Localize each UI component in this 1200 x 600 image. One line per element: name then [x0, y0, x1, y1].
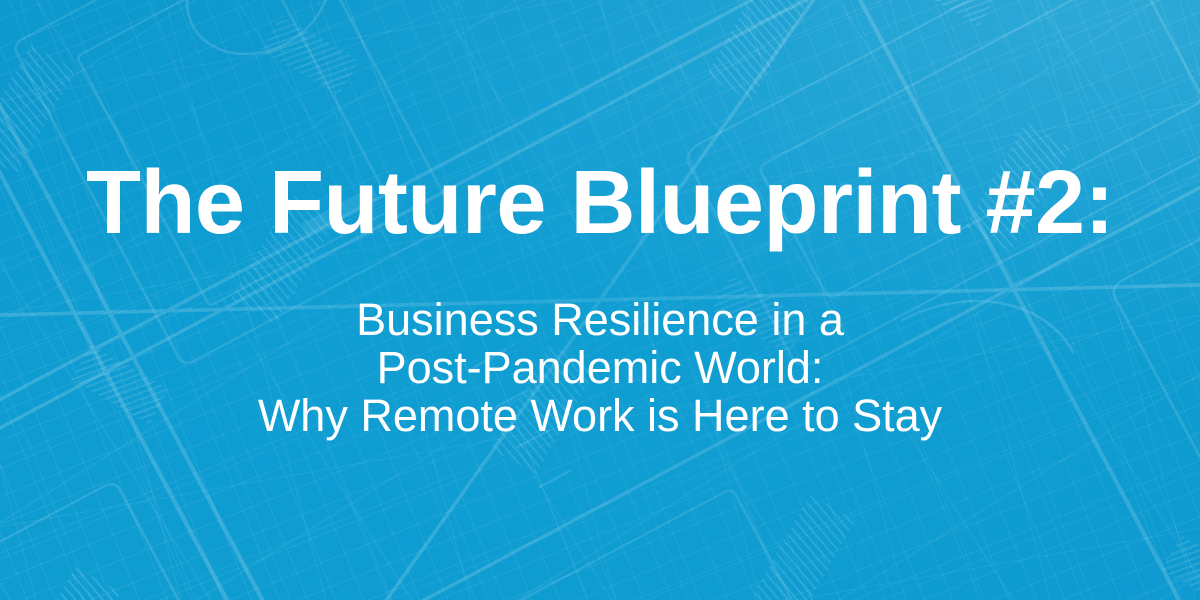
subtitle-line-3: Why Remote Work is Here to Stay	[258, 392, 942, 440]
banner-headline: The Future Blueprint #2:	[86, 0, 1114, 248]
banner-subtitle: Business Resilience in a Post-Pandemic W…	[258, 248, 942, 440]
subtitle-line-2: Post-Pandemic World:	[258, 344, 942, 392]
banner-content: The Future Blueprint #2: Business Resili…	[0, 0, 1200, 600]
subtitle-line-1: Business Resilience in a	[258, 296, 942, 344]
blueprint-banner: The Future Blueprint #2: Business Resili…	[0, 0, 1200, 600]
